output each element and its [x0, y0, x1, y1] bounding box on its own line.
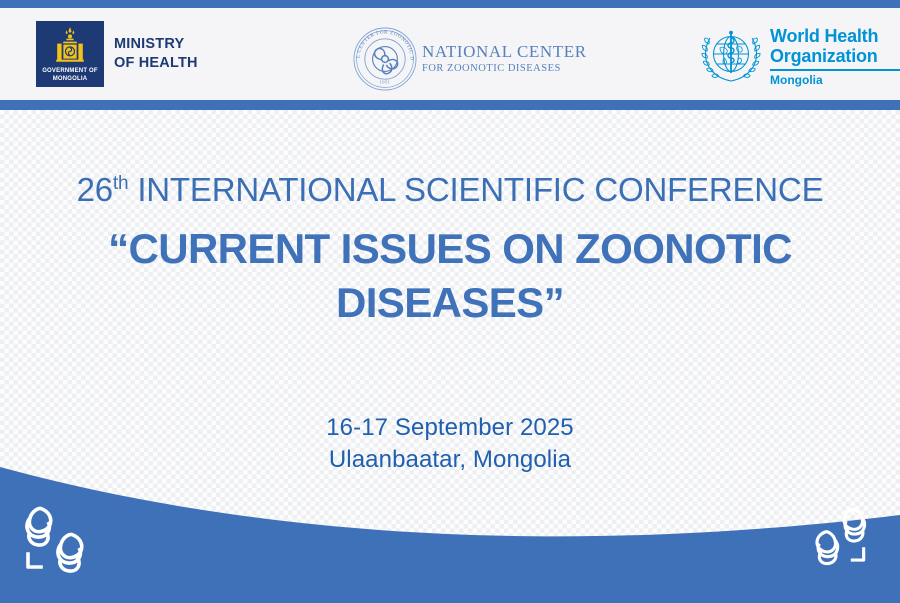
crest-caption: GOVERNMENT OF MONGOLIA: [36, 67, 104, 83]
wave-shadow-band: [0, 481, 900, 603]
ministry-of-health-logo: GOVERNMENT OF MONGOLIA MINISTRY OF HEALT…: [36, 21, 198, 87]
national-center-zoonotic-diseases-logo: NATIONAL CENTER FOR ZOONOTIC DISEASES 19…: [352, 26, 587, 92]
svg-text:1951: 1951: [380, 80, 391, 85]
who-line-2: Organization: [770, 46, 900, 66]
who-wordmark: World Health Organization Mongolia: [770, 26, 900, 87]
zoonotic-seal-icon: NATIONAL CENTER FOR ZOONOTIC DISEASES 19…: [352, 26, 418, 92]
ministry-name-line-2: OF HEALTH: [114, 54, 198, 73]
conference-theme-title: “CURRENT ISSUES ON ZOONOTIC DISEASES”: [0, 222, 900, 330]
title-block: 26th INTERNATIONAL SCIENTIFIC CONFERENCE…: [0, 170, 900, 330]
mongolian-knot-ornament-left-icon: [18, 499, 104, 575]
conference-ordinal-suffix: th: [113, 173, 128, 194]
event-details: 16-17 September 2025 Ulaanbaatar, Mongol…: [0, 412, 900, 476]
conference-heading: 26th INTERNATIONAL SCIENTIFIC CONFERENCE: [0, 170, 900, 210]
who-line-1: World Health: [770, 26, 900, 46]
who-emblem-icon: [700, 28, 762, 84]
event-date: 16-17 September 2025: [0, 412, 900, 444]
who-underline-rule: [770, 69, 900, 71]
national-center-line-1: NATIONAL CENTER: [422, 42, 587, 62]
header-divider-bar: [0, 100, 900, 110]
who-logo: World Health Organization Mongolia: [700, 26, 900, 87]
conference-heading-text: INTERNATIONAL SCIENTIFIC CONFERENCE: [128, 171, 823, 208]
crest-line-2: MONGOLIA: [53, 76, 88, 82]
logo-row: GOVERNMENT OF MONGOLIA MINISTRY OF HEALT…: [0, 8, 900, 100]
ministry-of-health-name: MINISTRY OF HEALTH: [114, 35, 198, 73]
who-country-label: Mongolia: [770, 73, 900, 87]
soyombo-emblem-icon: [50, 25, 90, 69]
national-center-line-2: FOR ZOONOTIC DISEASES: [422, 62, 587, 76]
conference-number: 26: [77, 171, 113, 208]
mongolia-government-crest: GOVERNMENT OF MONGOLIA: [36, 21, 104, 87]
ministry-name-line-1: MINISTRY: [114, 35, 198, 54]
event-location: Ulaanbaatar, Mongolia: [0, 444, 900, 476]
slide-body: 26th INTERNATIONAL SCIENTIFIC CONFERENCE…: [0, 110, 900, 603]
mongolian-knot-ornament-right-icon: [796, 501, 874, 567]
crest-line-1: GOVERNMENT OF: [42, 68, 98, 74]
national-center-name: NATIONAL CENTER FOR ZOONOTIC DISEASES: [422, 42, 587, 76]
conference-title-slide: GOVERNMENT OF MONGOLIA MINISTRY OF HEALT…: [0, 0, 900, 603]
top-accent-bar: [0, 0, 900, 8]
wave-primary-band: [0, 467, 900, 603]
